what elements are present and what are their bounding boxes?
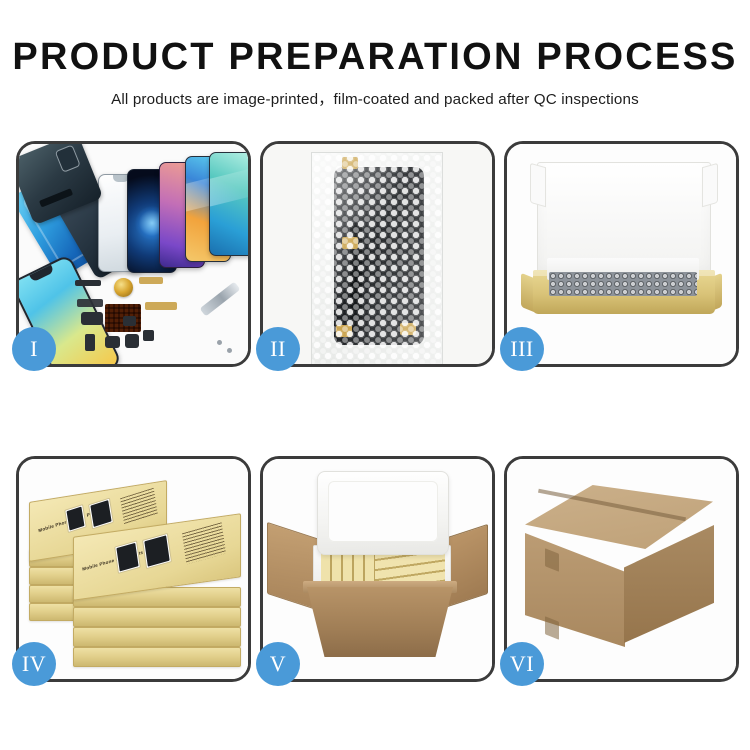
foam-lid-icon [317, 471, 449, 555]
lcd-screen-teal-icon [209, 152, 248, 256]
stacked-boxes-scene: Mobile Phone Spare Parts Mobile Phone Sp… [19, 459, 248, 679]
flex-cable-icon [139, 277, 163, 284]
box-stack: Mobile Phone Spare Parts Mobile Phone Sp… [27, 473, 245, 671]
small-part-icon [123, 316, 136, 326]
phone-parts-scene [19, 144, 248, 364]
step-badge-2: II [256, 327, 300, 371]
box-window-icon [142, 533, 172, 569]
step-2-image [263, 144, 492, 364]
process-step-panel-3: III [504, 141, 739, 367]
process-step-panel-2: II [260, 141, 495, 367]
stacked-box [73, 627, 241, 647]
step-1-image [19, 144, 248, 364]
page-header: PRODUCT PREPARATION PROCESS All products… [0, 0, 750, 109]
carton-body-icon [307, 587, 453, 657]
step-4-image: Mobile Phone Spare Parts Mobile Phone Sp… [19, 459, 248, 679]
process-step-panel-6: VI [504, 456, 739, 682]
flex-cable-icon [145, 302, 177, 310]
step-badge-5: V [256, 642, 300, 686]
step-5-image [263, 459, 492, 679]
box-window-icon [64, 504, 87, 533]
step-3-image [507, 144, 736, 364]
small-part-icon [85, 334, 95, 351]
box-window-icon [88, 498, 114, 530]
box-window-icon [114, 540, 141, 574]
bubble-wrapped-screen-scene [263, 144, 492, 364]
small-part-icon [125, 334, 139, 348]
bubble-wrapped-contents-icon [549, 272, 697, 296]
process-step-panel-5: V [260, 456, 495, 682]
small-part-icon [105, 336, 120, 348]
flex-cable-icon [77, 299, 103, 307]
box-spec-lines [182, 522, 226, 564]
small-part-icon [143, 330, 154, 341]
carton-with-foam-scene [263, 459, 492, 679]
step-badge-1: I [12, 327, 56, 371]
screw-icon [227, 348, 232, 353]
process-steps-grid: I II [16, 141, 734, 682]
page-subtitle: All products are image-printed，film-coat… [0, 87, 750, 109]
step-badge-3: III [500, 327, 544, 371]
sealed-carton-scene [507, 459, 736, 679]
small-part-icon [81, 312, 103, 325]
page-title: PRODUCT PREPARATION PROCESS [0, 38, 750, 78]
process-step-panel-4: Mobile Phone Spare Parts Mobile Phone Sp… [16, 456, 251, 682]
inner-box-scene [507, 144, 736, 364]
box-spec-lines [120, 488, 158, 526]
stacked-box [73, 647, 241, 667]
stacked-box [73, 607, 241, 627]
step-6-image [507, 459, 736, 679]
bubble-wrap-bag-icon [311, 152, 443, 364]
speaker-module-icon [114, 278, 133, 297]
screw-icon [217, 340, 222, 345]
step-badge-6: VI [500, 642, 544, 686]
step-badge-4: IV [12, 642, 56, 686]
process-step-panel-1: I [16, 141, 251, 367]
small-part-icon [75, 280, 101, 286]
